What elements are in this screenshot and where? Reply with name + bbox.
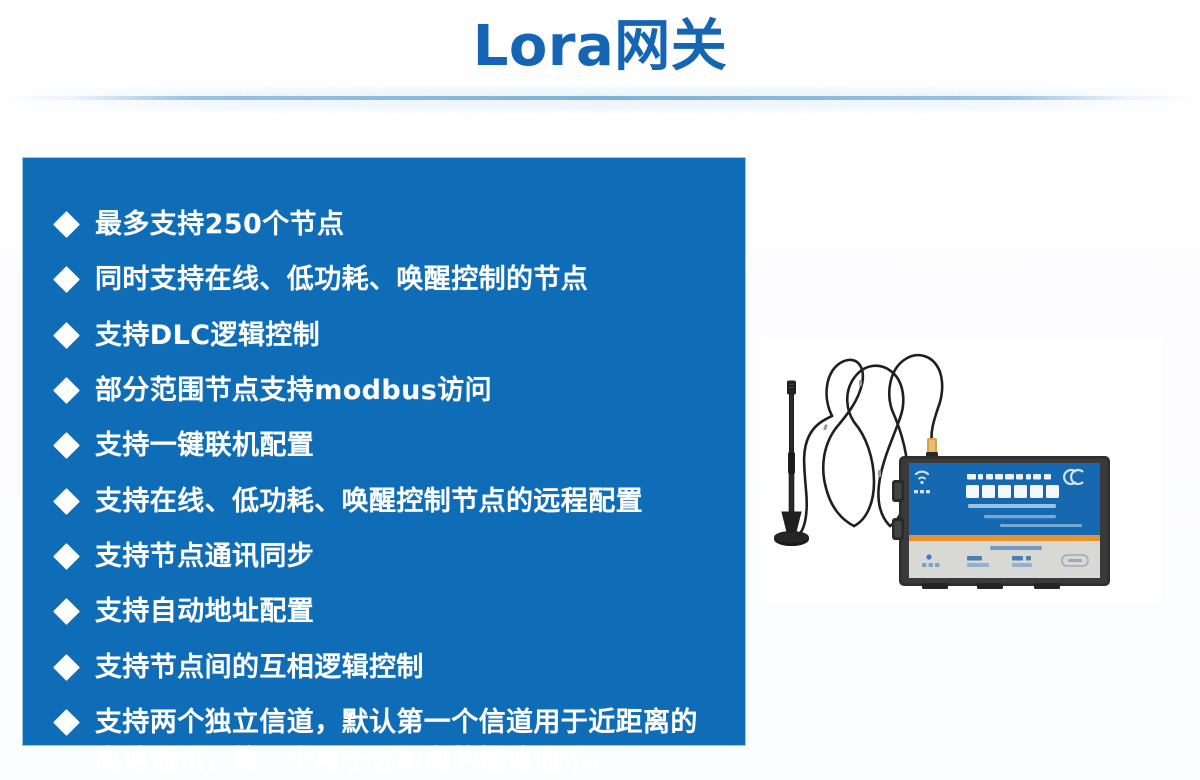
feature-panel: 最多支持250个节点 同时支持在线、低功耗、唤醒控制的节点 支持DLC逻辑控制 … <box>22 157 746 746</box>
feature-text: 同时支持在线、低功耗、唤醒控制的节点 <box>95 261 588 299</box>
diamond-bullet-icon <box>53 211 80 238</box>
feature-item: 同时支持在线、低功耗、唤醒控制的节点 <box>57 261 721 299</box>
feature-item: 支持节点通讯同步 <box>57 538 721 576</box>
diamond-bullet-icon <box>53 654 80 681</box>
feature-text: 支持两个独立信道，默认第一个信道用于近距离的高速通讯，第二个用于远距离的慢速通讯… <box>95 704 721 780</box>
feature-item: 部分范围节点支持modbus访问 <box>57 372 721 410</box>
diamond-bullet-icon <box>53 432 80 459</box>
feature-text: 支持节点通讯同步 <box>95 538 314 576</box>
diamond-bullet-icon <box>53 709 80 736</box>
feature-text: 最多支持250个节点 <box>95 206 344 244</box>
diamond-bullet-icon <box>53 598 80 625</box>
feature-text: 支持DLC逻辑控制 <box>95 317 320 355</box>
page-title: Lora网关 <box>473 19 728 75</box>
feature-item: 支持自动地址配置 <box>57 593 721 631</box>
title-area: Lora网关 <box>0 6 1200 88</box>
port-label-text <box>990 546 1042 550</box>
title-divider <box>0 96 1200 100</box>
feature-text: 支持自动地址配置 <box>95 593 314 631</box>
product-photo <box>762 340 1162 602</box>
feature-text: 部分范围节点支持modbus访问 <box>95 372 492 410</box>
slide-root: Lora网关 最多支持250个节点 同时支持在线、低功耗、唤醒控制的节点 支持D… <box>0 0 1200 780</box>
device-model-text <box>967 474 1051 480</box>
diamond-bullet-icon <box>53 377 80 404</box>
feature-item: 支持DLC逻辑控制 <box>57 317 721 355</box>
product-illustration <box>762 340 1162 602</box>
feature-text: 支持在线、低功耗、唤醒控制节点的远程配置 <box>95 483 643 521</box>
diamond-bullet-icon <box>53 488 80 515</box>
feature-text: 支持节点间的互相逻辑控制 <box>95 649 424 687</box>
feature-text: 支持一键联机配置 <box>95 427 314 465</box>
feature-item: 支持节点间的互相逻辑控制 <box>57 649 721 687</box>
diamond-bullet-icon <box>53 322 80 349</box>
feature-item: 支持一键联机配置 <box>57 427 721 465</box>
feature-item: 最多支持250个节点 <box>57 206 721 244</box>
feature-item: 支持两个独立信道，默认第一个信道用于近距离的高速通讯，第二个用于远距离的慢速通讯… <box>57 704 721 780</box>
feature-item: 支持在线、低功耗、唤醒控制节点的远程配置 <box>57 483 721 521</box>
diamond-bullet-icon <box>53 543 80 570</box>
gateway-device <box>892 456 1110 589</box>
sma-connector-icon <box>926 438 938 458</box>
diamond-bullet-icon <box>53 266 80 293</box>
device-subtitle-text <box>968 504 1056 508</box>
